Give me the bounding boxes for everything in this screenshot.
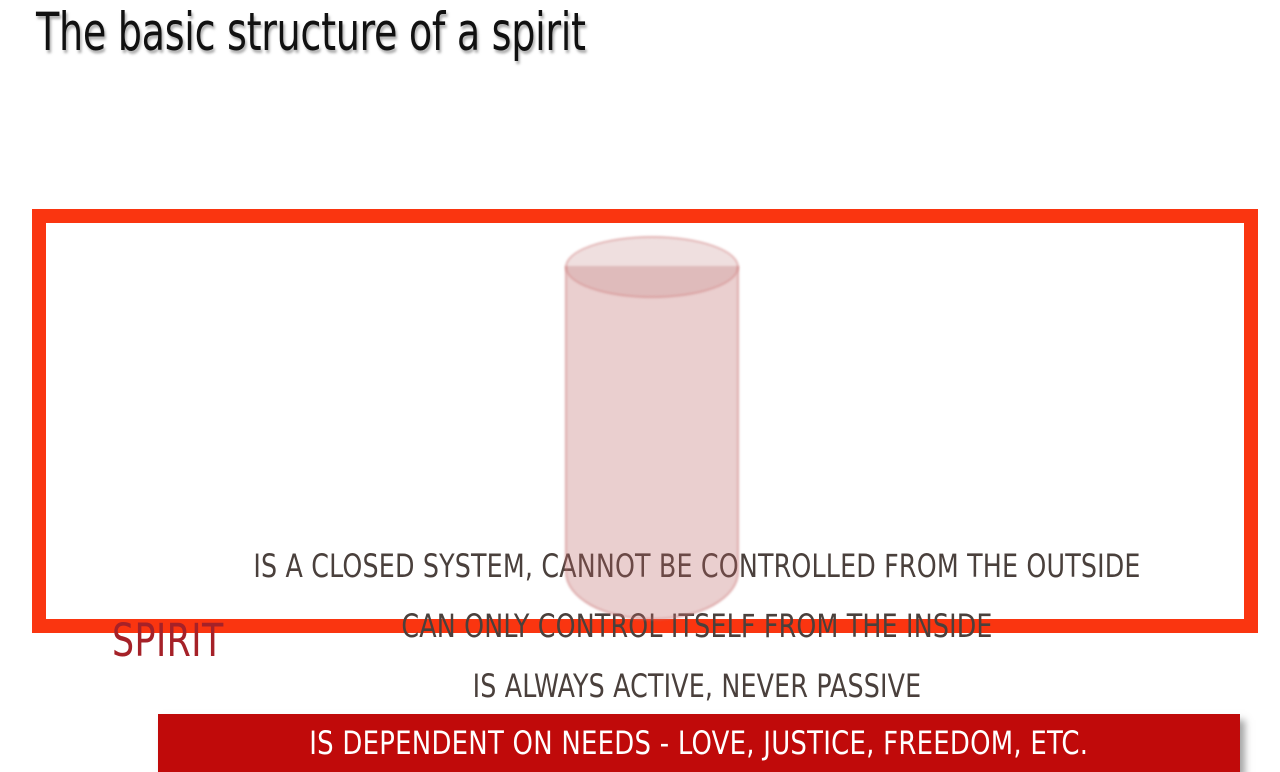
diagram-frame: SPIRIT IS A CLOSED SYSTEM, CANNOT BE CON… — [32, 209, 1258, 633]
statement-list: IS A CLOSED SYSTEM, CANNOT BE CONTROLLED… — [142, 536, 1252, 716]
statement-line: IS A CLOSED SYSTEM, CANNOT BE CONTROLLED… — [209, 536, 1186, 596]
slide-canvas: The basic structure of a spirit SPIRIT I… — [0, 0, 1280, 720]
page-title: The basic structure of a spirit — [36, 2, 586, 64]
statement-line: IS ALWAYS ACTIVE, NEVER PASSIVE — [209, 656, 1186, 716]
statement-line: CAN ONLY CONTROL ITSELF FROM THE INSIDE — [209, 596, 1186, 656]
highlight-banner-text: IS DEPENDENT ON NEEDS - LOVE, JUSTICE, F… — [309, 724, 1088, 762]
highlight-banner: IS DEPENDENT ON NEEDS - LOVE, JUSTICE, F… — [158, 714, 1240, 772]
